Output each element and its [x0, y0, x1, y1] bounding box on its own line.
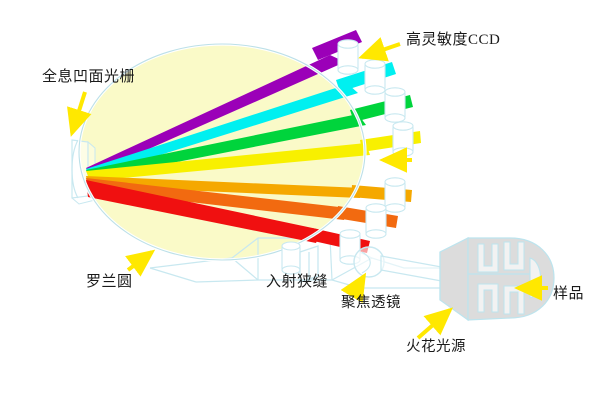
focusing-lens-ring — [354, 247, 384, 277]
label-holographic-concave-grating: 全息凹面光栅 — [42, 70, 135, 85]
focusing-lens[interactable] — [354, 247, 384, 277]
ccd-detector-5[interactable] — [385, 178, 405, 212]
label-spark-source: 火花光源 — [406, 340, 466, 355]
label-entrance-slit: 入射狭缝 — [266, 275, 328, 290]
arrow-to-ccd — [362, 44, 400, 57]
label-rowland-circle: 罗兰圆 — [86, 275, 133, 290]
ccd-detector-6[interactable] — [366, 204, 386, 238]
spark-source-housing[interactable] — [440, 238, 554, 320]
ccd-detector-2[interactable] — [365, 60, 385, 94]
ccd-detector-4[interactable] — [393, 122, 413, 156]
ccd-detector-1[interactable] — [338, 40, 358, 74]
label-high-sensitivity-ccd: 高灵敏度CCD — [406, 33, 500, 48]
spectrometer-schematic — [0, 0, 600, 400]
label-sample: 样品 — [553, 287, 584, 302]
arrow-to-source — [418, 310, 450, 338]
diagram-canvas: 全息凹面光栅 高灵敏度CCD 罗兰圆 入射狭缝 聚焦透镜 火花光源 样品 — [0, 0, 600, 400]
ccd-detector-8[interactable] — [282, 242, 300, 274]
label-focusing-lens: 聚焦透镜 — [341, 296, 401, 311]
arrow-to-rowland — [128, 252, 152, 270]
ccd-detector-3[interactable] — [385, 88, 405, 122]
source-back-plate — [440, 238, 468, 320]
